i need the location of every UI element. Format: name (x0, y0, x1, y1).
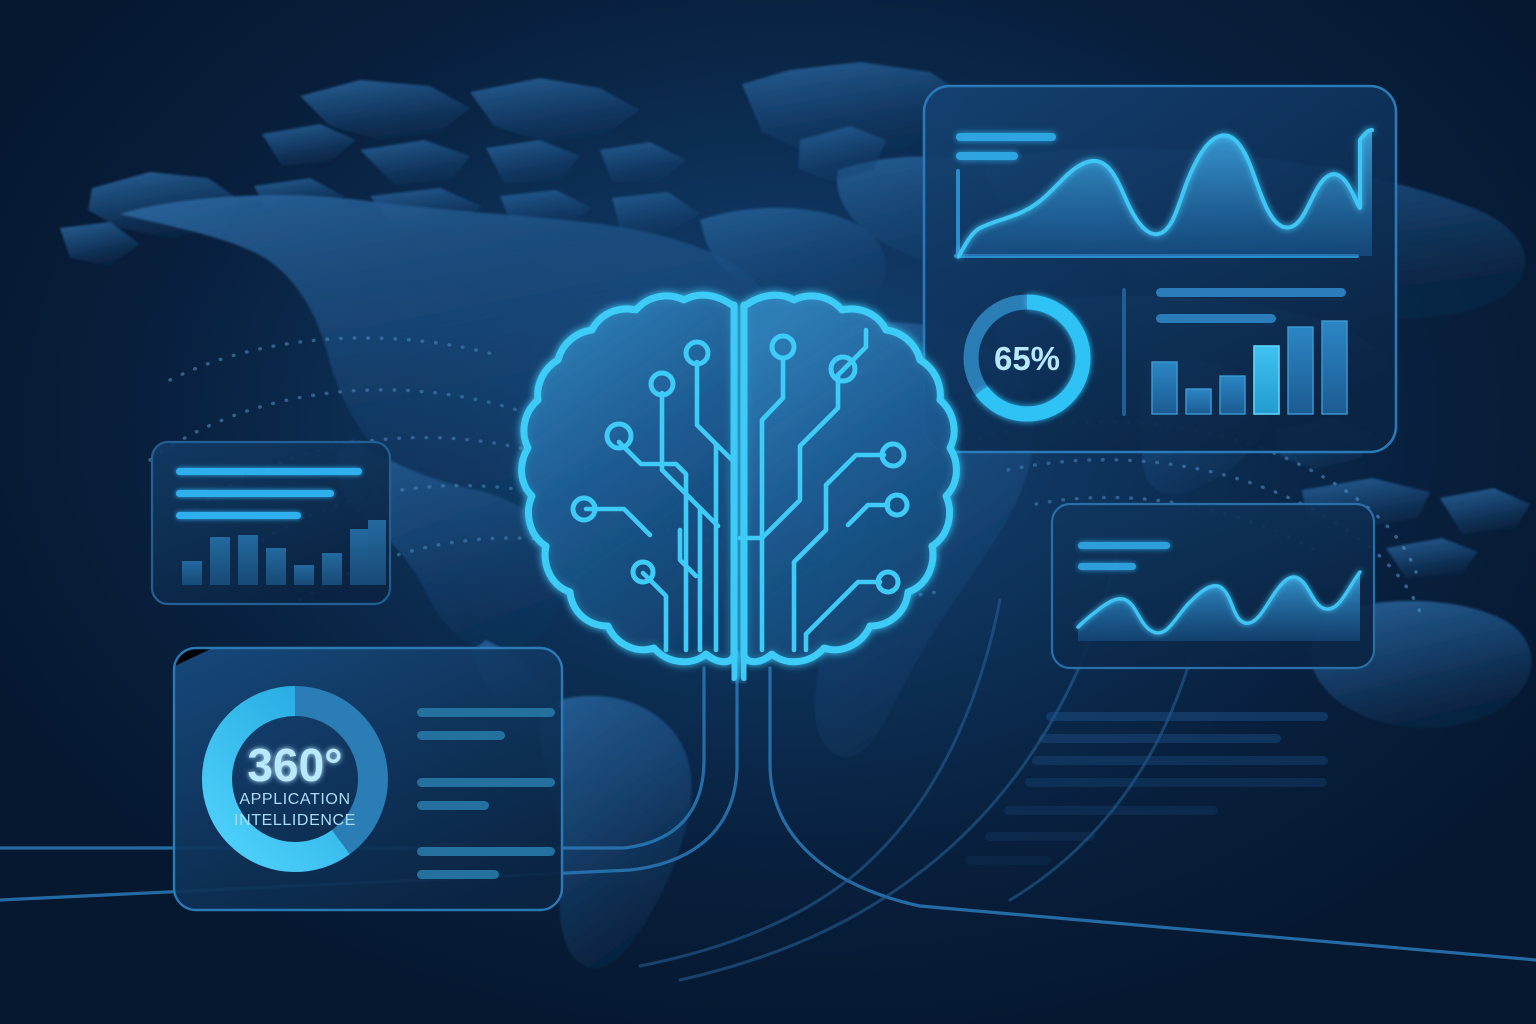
brain-stem-lines (734, 656, 744, 678)
brain-right-hemisphere[interactable] (744, 295, 956, 662)
ai-brain-circuit[interactable] (0, 0, 1536, 1024)
illustration-canvas: 65% (0, 0, 1536, 1024)
